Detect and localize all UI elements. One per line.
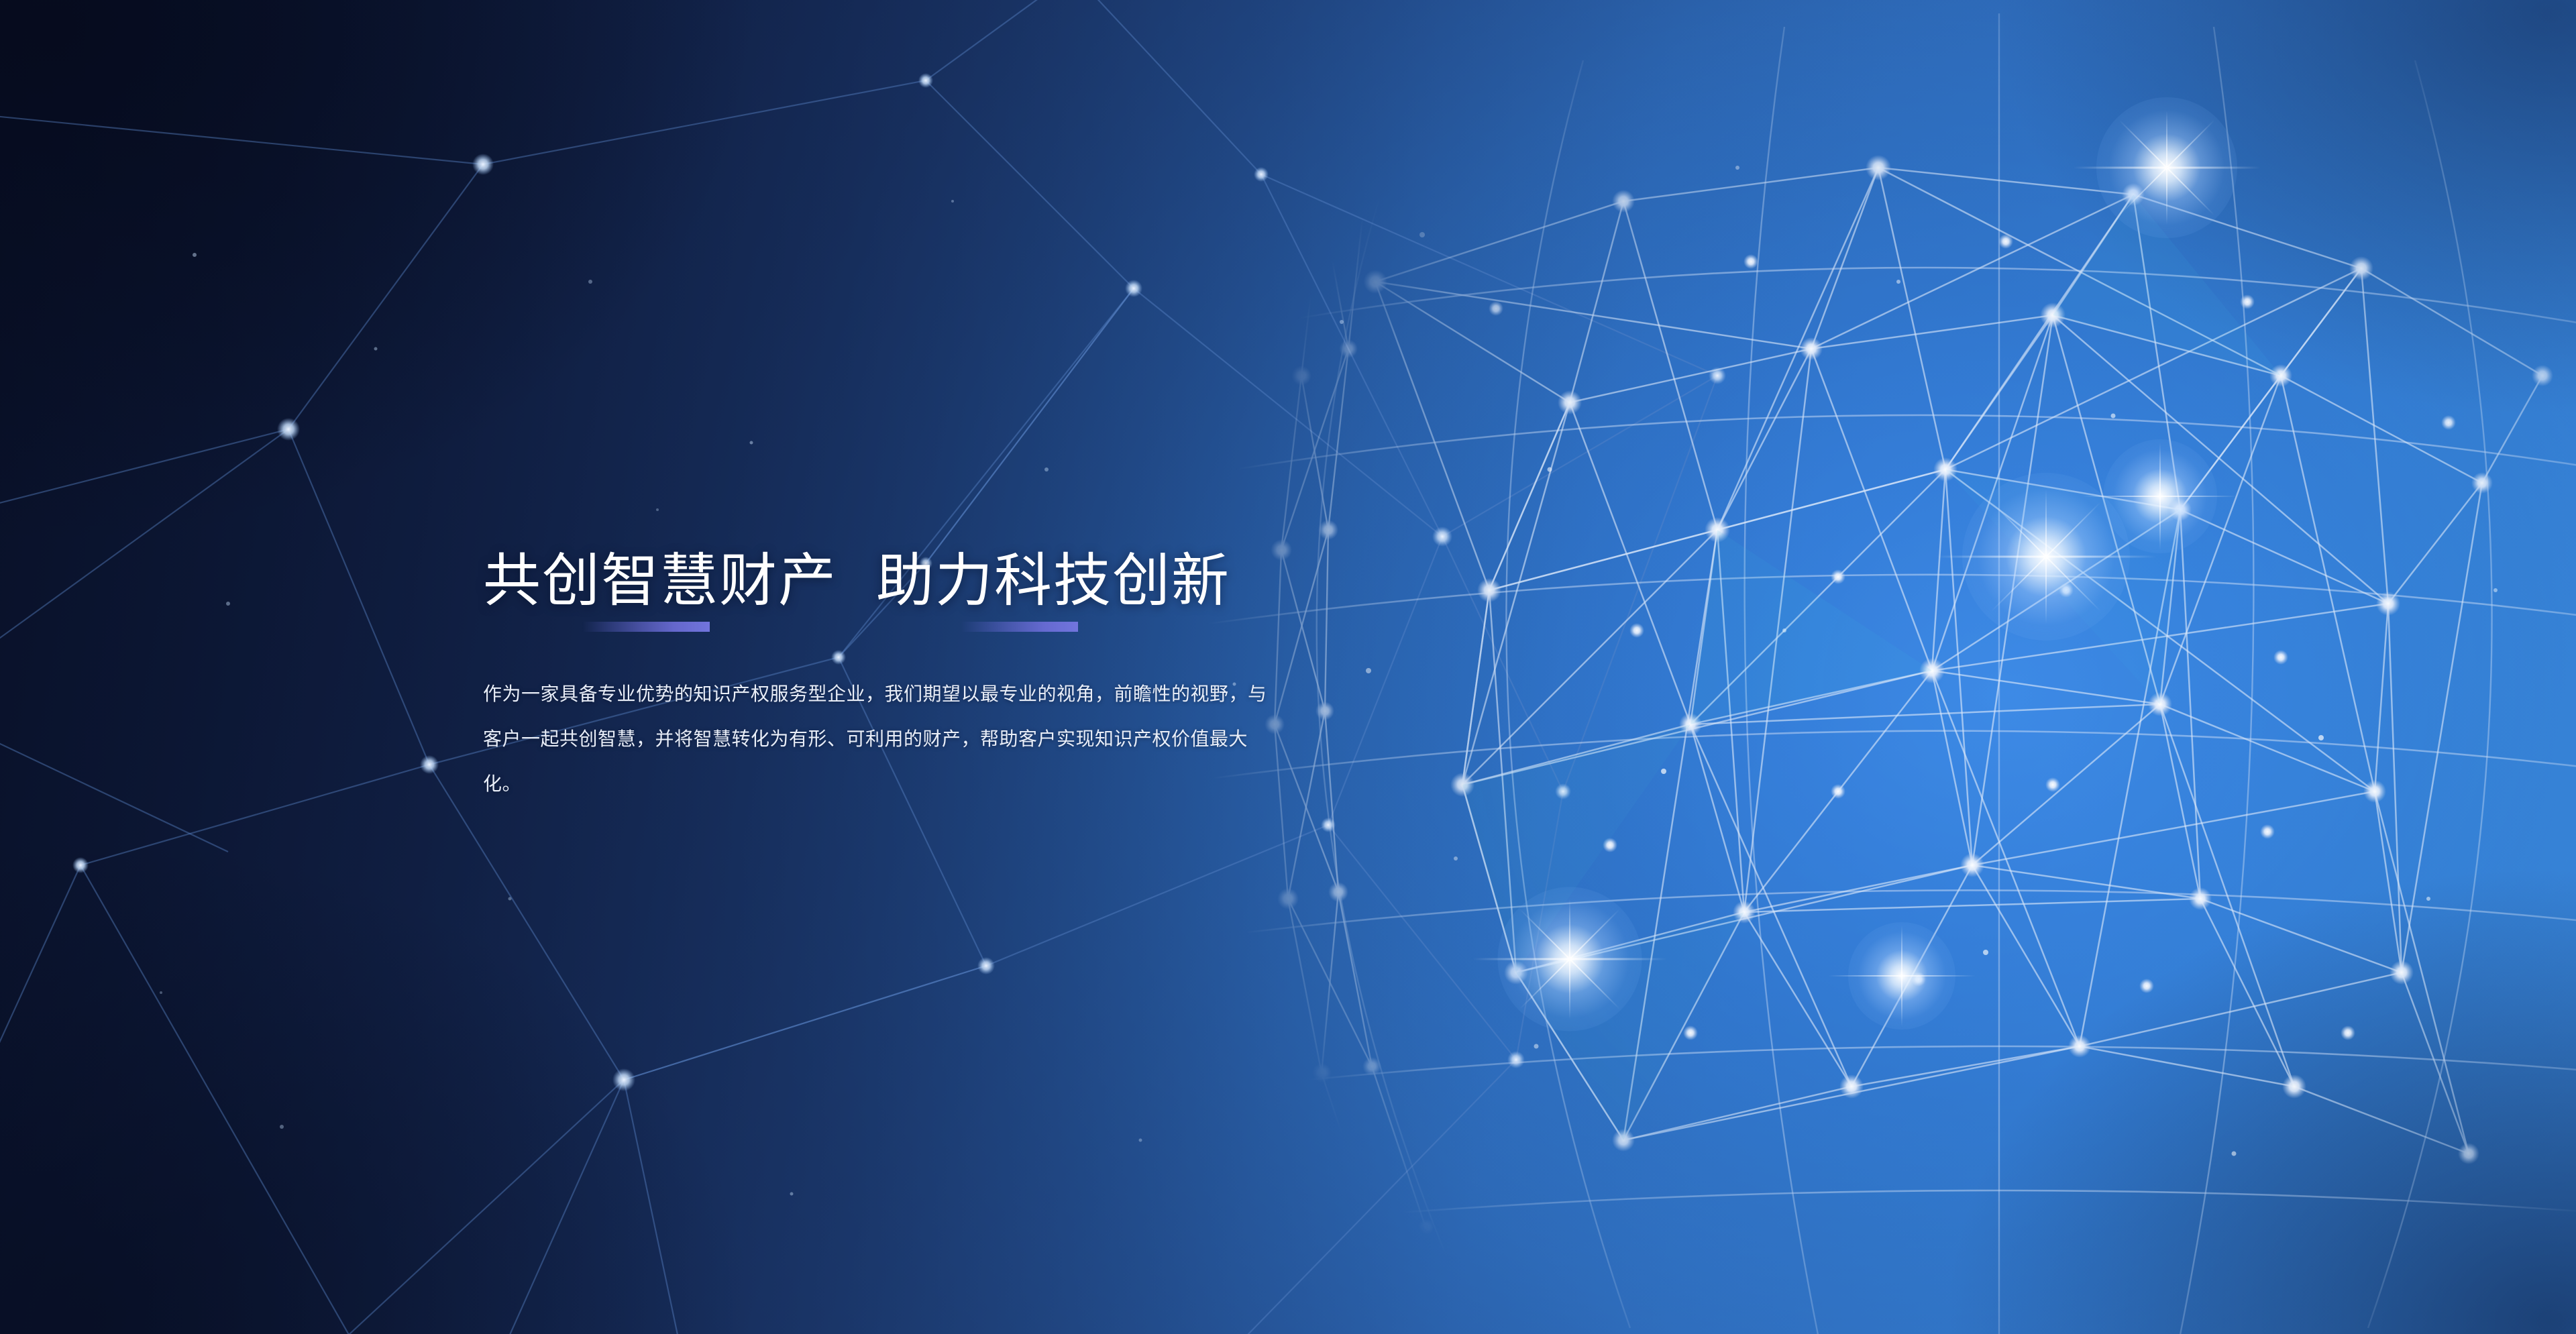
purple-gradient-underline [582,622,710,632]
headline-part-one: 共创智慧财产 [483,549,837,613]
purple-gradient-underline [961,622,1078,632]
hero-text-block: 共创智慧财产助力科技创新 作为一家具备专业优势的知识产权服务型企业，我们期望以最… [483,550,1489,806]
accent-underline-row [483,616,1288,636]
hero-description: 作为一家具备专业优势的知识产权服务型企业，我们期望以最专业的视角，前瞻性的视野，… [483,671,1268,806]
headline-part-two: 助力科技创新 [876,549,1230,613]
page-title: 共创智慧财产助力科技创新 [483,550,1489,612]
hero-banner: 共创智慧财产助力科技创新 作为一家具备专业优势的知识产权服务型企业，我们期望以最… [0,0,2576,1334]
